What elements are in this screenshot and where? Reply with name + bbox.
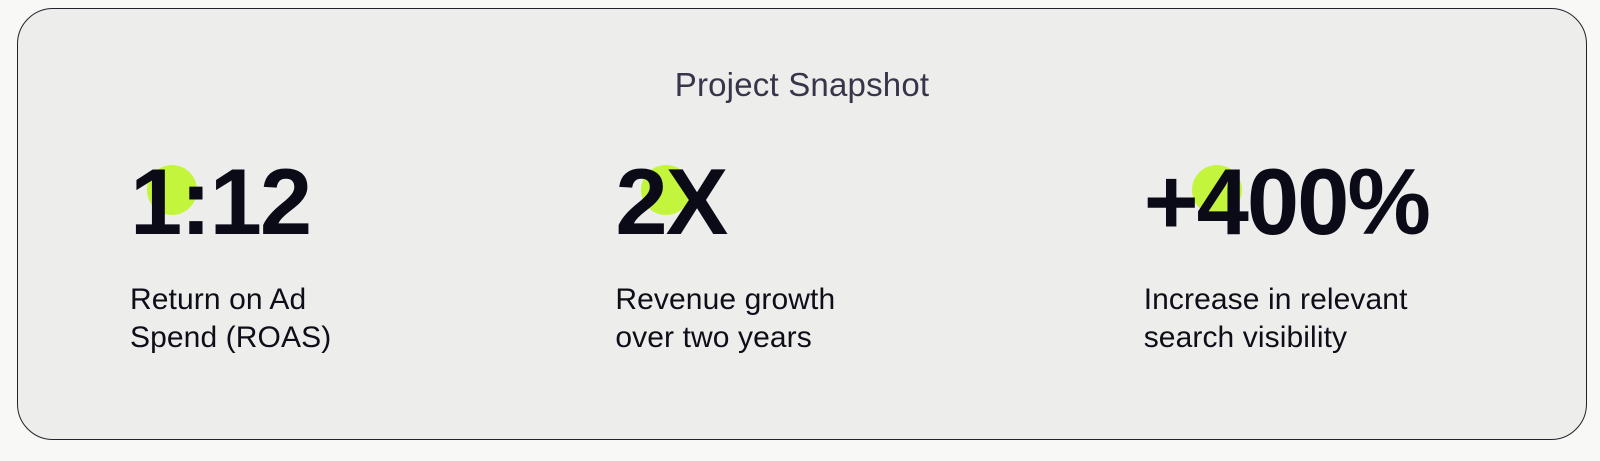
stat-item-roas: 1:12 Return on Ad Spend (ROAS) xyxy=(18,149,517,357)
stat-value: 1:12 xyxy=(130,149,310,254)
stat-label: Increase in relevant search visibility xyxy=(1144,281,1586,357)
stat-label: Revenue growth over two years xyxy=(615,281,1031,357)
stat-label: Return on Ad Spend (ROAS) xyxy=(130,281,517,357)
stat-figure: +400% xyxy=(1144,149,1586,271)
stats-row: 1:12 Return on Ad Spend (ROAS) 2X Revenu… xyxy=(18,149,1586,379)
stat-value: +400% xyxy=(1144,149,1429,254)
project-snapshot-card: Project Snapshot 1:12 Return on Ad Spend… xyxy=(17,8,1587,440)
stat-value: 2X xyxy=(615,149,726,254)
page-title: Project Snapshot xyxy=(18,68,1586,101)
stat-item-revenue-growth: 2X Revenue growth over two years xyxy=(517,149,1031,357)
stat-figure: 2X xyxy=(615,149,1031,271)
stat-item-search-visibility: +400% Increase in relevant search visibi… xyxy=(1032,149,1586,357)
stat-figure: 1:12 xyxy=(130,149,517,271)
